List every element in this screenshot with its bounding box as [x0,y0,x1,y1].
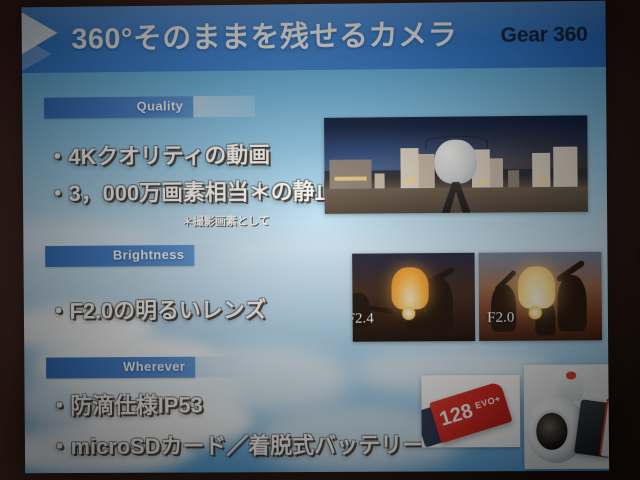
panorama-night-city-photo [324,115,588,214]
building [400,148,419,189]
removable-battery [574,400,609,459]
lantern-photo-f24: F2.4 [352,253,475,342]
bullet-wherever-2: ・microSDカード／着脱式バッテリー [49,427,425,461]
sd-card-body [429,381,513,443]
building [508,170,519,187]
section-band-quality: Quality [44,96,193,118]
camera-stem [556,367,584,403]
section-band-label: Brightness [113,247,185,263]
brand-logo-text: Gear 360 [501,23,588,48]
building [471,149,490,188]
section-band-label: Quality [137,98,184,113]
building [374,173,385,188]
window-light [538,179,549,183]
cloud-decoration [34,335,223,396]
band-tail [195,356,257,377]
sky-lantern [518,266,555,309]
sd-card-notch [421,406,444,447]
cloud-decoration [22,305,154,352]
lantern-flame [528,305,543,319]
camera-halo-arc [425,136,488,149]
sd-card-series-label: EVO+ [474,393,502,410]
person-silhouette [352,292,370,327]
building [553,146,577,187]
aperture-label-f24: F2.4 [352,311,374,328]
battery-door [599,398,609,459]
photo-background [352,253,475,342]
building [330,160,372,189]
window-light [335,176,367,181]
bullet-brightness-1: ・F2.0の明るいレンズ [48,292,267,325]
person-silhouette [535,300,555,335]
arm-silhouette [556,259,586,282]
cloud-decoration [253,403,464,473]
sd-card-capacity-label: 128 [437,400,476,432]
bullet-quality-1: ・4Kクオリティの動画 [46,137,270,171]
cloud-decoration [22,219,153,254]
person-silhouette [406,303,426,337]
camera-body [526,396,586,463]
bullet-quality-2: ・3，000万画素相当＊の静止画 [47,174,359,209]
photo-sky-glow [324,115,588,170]
cloud-decoration [22,425,195,474]
window-light [477,180,488,184]
window-light [406,179,417,183]
projection-room-background: 360°そのままを残せるカメラ Gear 360 Quality ・4Kクオリテ… [0,0,640,480]
camera-record-button-icon [566,372,576,379]
photo-background [479,252,603,341]
slide-sky-background [22,1,610,474]
cloud-decoration [84,394,254,450]
lantern-flame [401,306,416,320]
section-band-label: Wherever [123,359,185,374]
cloud-decoration [353,347,554,398]
sky-lantern [391,267,428,310]
gear360-camera-battery-photo [524,364,609,469]
footnote-quality: ＊撮影画素として [182,212,270,229]
building [419,153,435,188]
photo-ground [325,187,588,214]
building [532,152,551,187]
tripod [441,182,470,213]
microsd-card-photo: 128 EVO+ [421,375,520,448]
person-silhouette [491,284,516,332]
bullet-wherever-1: ・防滴仕様IP53 [48,388,203,421]
person-silhouette [557,275,587,332]
aperture-label-f20: F2.0 [487,310,514,327]
arm-silhouette [494,270,517,293]
arm-silhouette [424,267,455,288]
play-arrow-icon-shadow [22,37,52,71]
slide-header: 360°そのままを残せるカメラ Gear 360 [22,1,606,73]
header-gloss [22,1,606,73]
lantern-photo-f20: F2.0 [479,252,603,341]
person-silhouette [426,278,453,333]
cloud-decoration [173,344,353,415]
page-title: 360°そのままを残せるカメラ [71,11,457,57]
gear360-camera-in-photo [434,140,476,185]
cloud-decoration [22,360,244,441]
arm-silhouette [364,305,394,315]
camera-lens [536,413,568,451]
building [490,159,503,188]
section-band-brightness: Brightness [45,245,194,267]
play-arrow-icon [22,12,58,54]
band-tail [194,244,256,265]
section-band-wherever: Wherever [46,357,195,379]
band-tail [193,96,255,118]
presentation-slide: 360°そのままを残せるカメラ Gear 360 Quality ・4Kクオリテ… [22,1,610,474]
